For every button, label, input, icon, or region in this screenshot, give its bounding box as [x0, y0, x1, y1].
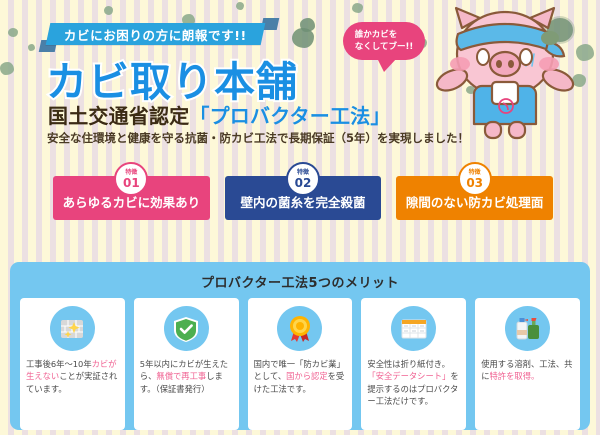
badge-label: 特徴: [297, 170, 309, 176]
mascot-speech-bubble: 誰かカビを なくしてブー!!: [343, 22, 425, 60]
merit-card-text: 工事後6年～10年カビが生えないことが実証されています。: [26, 358, 119, 395]
merit-card-text: 安全性は折り紙付き。「安全データシート」を提示するのはプロバクター工法だけです。: [367, 358, 460, 408]
feature-card-01[interactable]: 特徴 01 あらゆるカビに効果あり: [53, 176, 210, 220]
pig-mascot: [430, 2, 590, 162]
header-ribbon: カビにお困りの方に朗報です!!: [46, 23, 266, 45]
feature-card-03[interactable]: 特徴 03 隙間のない防カビ処理面: [396, 176, 553, 220]
merit-card-text: 5年以内にカビが生えたら、無償で再工事します。（保証書発行）: [140, 358, 233, 395]
merit-card-list: 工事後6年～10年カビが生えないことが実証されています。 5年以内にカビが生えた…: [20, 298, 580, 430]
badge-label: 特徴: [125, 170, 137, 176]
merit-card[interactable]: 工事後6年～10年カビが生えないことが実証されています。: [20, 298, 125, 430]
document-table-icon: [391, 306, 436, 351]
merits-panel: プロバクター工法5つのメリット: [10, 262, 590, 430]
merits-title: プロバクター工法5つのメリット: [20, 272, 580, 291]
subtitle-method-name: 「プロバクター工法」: [189, 104, 390, 128]
mold-splotch-icon: [300, 18, 315, 32]
green-shield-check-icon: [164, 306, 209, 351]
merit-card[interactable]: 安全性は折り紙付き。「安全データシート」を提示するのはプロバクター工法だけです。: [361, 298, 466, 430]
badge-number: 01: [123, 177, 140, 189]
page-subtitle: 国土交通省認定「プロバクター工法」: [48, 100, 391, 129]
ribbon-label: カビにお困りの方に朗報です!!: [64, 25, 247, 44]
feature-badge-01: 特徴 01: [114, 162, 148, 196]
bubble-line-2: なくしてブー!!: [355, 41, 414, 53]
merit-card[interactable]: 5年以内にカビが生えたら、無償で再工事します。（保証書発行）: [134, 298, 239, 430]
merit-card-text: 国内で唯一「防カビ業」として、国から認定を受けた工法です。: [254, 358, 347, 395]
feature-card-02[interactable]: 特徴 02 壁内の菌糸を完全殺菌: [225, 176, 382, 220]
mold-splotch-icon: [28, 44, 35, 51]
feature-badge-list: 特徴 01 あらゆるカビに効果あり 特徴 02 壁内の菌糸を完全殺菌 特徴 03…: [53, 176, 553, 220]
gold-medal-icon: [277, 306, 322, 351]
spray-bottles-icon: [505, 306, 550, 351]
feature-badge-03: 特徴 03: [458, 162, 492, 196]
page-title: カビ取り本舗: [46, 48, 298, 108]
merit-card[interactable]: 使用する溶剤、工法、共に特許を取得。: [475, 298, 580, 430]
bubble-line-1: 誰かカビを: [355, 29, 414, 41]
merit-card[interactable]: 国内で唯一「防カビ業」として、国から認定を受けた工法です。: [248, 298, 353, 430]
badge-number: 03: [466, 177, 483, 189]
merit-card-text: 使用する溶剤、工法、共に特許を取得。: [481, 358, 574, 383]
feature-badge-02: 特徴 02: [286, 162, 320, 196]
brick-wall-sparkle-icon: [50, 306, 95, 351]
mold-splotch-icon: [104, 6, 113, 15]
lead-text: 安全な住環境と健康を守る抗菌・防カビ工法で長期保証（5年）を実現しました！: [47, 130, 469, 146]
badge-label: 特徴: [469, 170, 481, 176]
badge-number: 02: [295, 177, 312, 189]
mold-splotch-icon: [236, 2, 244, 10]
mold-splotch-icon: [0, 62, 14, 75]
mold-splotch-icon: [8, 28, 18, 37]
mold-splotch-icon: [352, 3, 363, 13]
subtitle-certification: 国土交通省認定: [48, 104, 189, 128]
landing-page: カビにお困りの方に朗報です!! カビ取り本舗 国土交通省認定「プロバクター工法」…: [0, 0, 600, 435]
mold-splotch-icon: [292, 28, 314, 48]
